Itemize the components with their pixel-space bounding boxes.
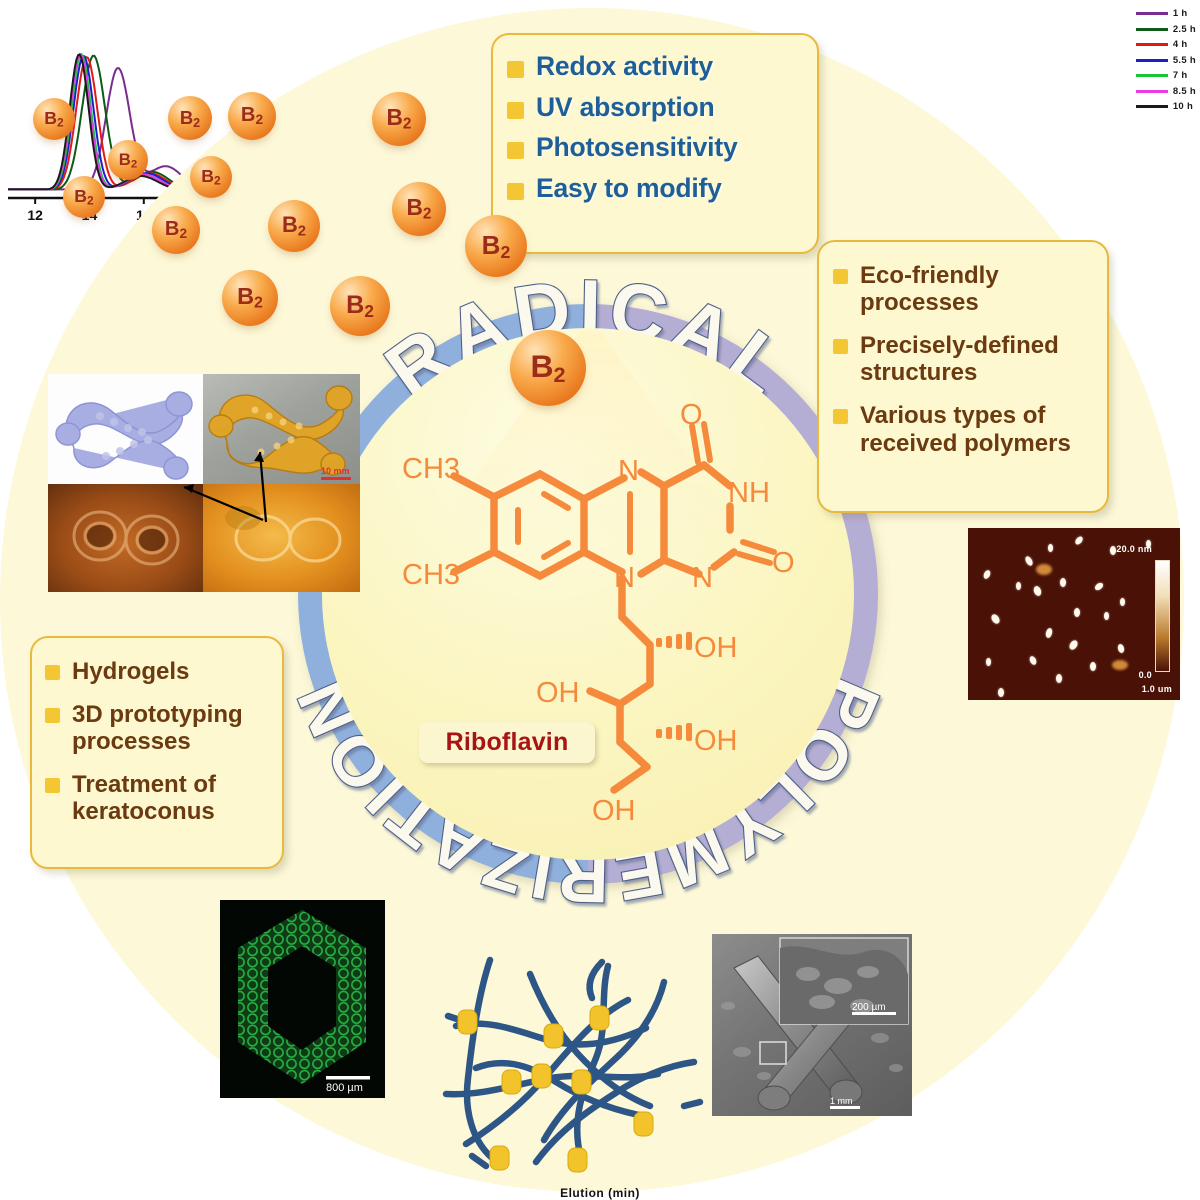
- properties-list: Redox activity UV absorption Photosensit…: [507, 52, 801, 204]
- applications-item-2: Treatment of keratoconus: [72, 771, 270, 825]
- atom-label-n-top: N: [618, 455, 639, 487]
- bullet-square-icon: [507, 102, 524, 119]
- list-item: Various types of received polymers: [833, 402, 1093, 456]
- applications-item-0: Hydrogels: [72, 658, 189, 685]
- properties-item-0: Redox activity: [536, 52, 713, 82]
- confocal-scale-bar-label: 800 µm: [326, 1082, 363, 1094]
- crosslink-node: [590, 1006, 609, 1030]
- panel-sem-microneedle: 200 µm 1 mm: [712, 934, 912, 1116]
- chart-legend-item: 2.5 h: [1136, 24, 1196, 35]
- advantages-list: Eco-friendly processes Precisely-defined…: [833, 262, 1093, 457]
- montage-cell-printed-object: 10 mm: [203, 374, 360, 484]
- montage-cell-closeup-left: [48, 484, 203, 592]
- crosslink-node: [490, 1146, 509, 1170]
- chart-legend-label: 7 h: [1173, 70, 1188, 81]
- chart-legend-item: 7 h: [1136, 70, 1196, 81]
- b2-sphere: B2: [228, 92, 276, 140]
- crosslink-node: [544, 1024, 563, 1048]
- riboflavin-label-text: Riboflavin: [446, 728, 569, 757]
- bullet-square-icon: [45, 708, 60, 723]
- chart-legend-item: 10 h: [1136, 101, 1196, 112]
- b2-sphere: B2: [330, 276, 390, 336]
- atom-label-oh-1: OH: [694, 632, 738, 664]
- atom-label-n-bottom: N: [614, 562, 635, 594]
- callout-applications: Hydrogels 3D prototyping processes Treat…: [30, 636, 284, 869]
- bullet-square-icon: [833, 409, 848, 424]
- crosslink-node: [572, 1070, 591, 1094]
- b2-sphere: B2: [190, 156, 232, 198]
- callout-properties: Redox activity UV absorption Photosensit…: [491, 33, 819, 254]
- b2-sphere: B2: [152, 206, 200, 254]
- afm-scale-max: 20.0 nm: [1116, 544, 1152, 554]
- chart-legend-item: 1 h: [1136, 8, 1196, 19]
- chart-legend-label: 5.5 h: [1173, 55, 1196, 66]
- bullet-square-icon: [45, 778, 60, 793]
- atom-label-n-ring: N: [692, 562, 713, 594]
- advantages-item-2: Various types of received polymers: [860, 402, 1093, 456]
- atom-label-oh-4: OH: [592, 795, 636, 827]
- chart-legend-item: 8.5 h: [1136, 86, 1196, 97]
- panel-polymer-network-diagram: [432, 944, 710, 1176]
- b2-sphere: B2: [108, 140, 148, 180]
- chart-x-tick-label: 12: [27, 207, 43, 223]
- riboflavin-structure: CH3 CH3 N N N NH O O OH OH OH OH: [392, 402, 822, 832]
- list-item: Treatment of keratoconus: [45, 771, 270, 825]
- chart-legend-label: 1 h: [1173, 8, 1188, 19]
- chart-legend-swatch: [1136, 105, 1168, 108]
- chart-legend: 1 h2.5 h4 h5.5 h7 h8.5 h10 h: [1136, 8, 1196, 117]
- properties-item-1: UV absorption: [536, 93, 715, 123]
- advantages-item-1: Precisely-defined structures: [860, 332, 1093, 386]
- atom-label-o-top: O: [680, 402, 703, 431]
- properties-item-2: Photosensitivity: [536, 133, 737, 163]
- chart-xlabel: Elution (min): [0, 1186, 1200, 1200]
- chart-legend-label: 10 h: [1173, 101, 1193, 112]
- bullet-square-icon: [507, 183, 524, 200]
- bullet-square-icon: [833, 269, 848, 284]
- atom-label-nh: NH: [728, 477, 770, 509]
- list-item: Redox activity: [507, 52, 801, 82]
- advantages-item-0: Eco-friendly processes: [860, 262, 1093, 316]
- chart-legend-label: 2.5 h: [1173, 24, 1196, 35]
- b2-sphere: B2: [33, 98, 75, 140]
- crosslink-node: [634, 1112, 653, 1136]
- chart-legend-item: 4 h: [1136, 39, 1196, 50]
- b2-sphere: B2: [372, 92, 426, 146]
- afm-scan-size: 1.0 um: [1142, 684, 1172, 694]
- atom-label-oh-3: OH: [694, 725, 738, 757]
- list-item: Easy to modify: [507, 174, 801, 204]
- chart-legend-swatch: [1136, 74, 1168, 77]
- scale-bar-label-montage: 10 mm: [321, 466, 350, 476]
- b2-sphere: B2: [63, 176, 105, 218]
- list-item: UV absorption: [507, 93, 801, 123]
- sem-scale-bar-label: 1 mm: [830, 1096, 853, 1106]
- bullet-square-icon: [507, 142, 524, 159]
- chart-legend-swatch: [1136, 12, 1168, 15]
- chart-legend-label: 4 h: [1173, 39, 1188, 50]
- bullet-square-icon: [507, 61, 524, 78]
- panel-confocal-hexagon-scaffold: 800 µm: [220, 900, 385, 1098]
- callout-advantages: Eco-friendly processes Precisely-defined…: [817, 240, 1109, 513]
- chart-legend-label: 8.5 h: [1173, 86, 1196, 97]
- atom-label-oh-2: OH: [536, 677, 580, 709]
- bullet-square-icon: [45, 665, 60, 680]
- b2-sphere: B2: [465, 215, 527, 277]
- applications-item-1: 3D prototyping processes: [72, 701, 270, 755]
- crosslink-node: [532, 1064, 551, 1088]
- crosslink-node: [458, 1010, 477, 1034]
- panel-3d-printed-hydrogel-montage: 10 mm: [48, 374, 360, 592]
- list-item: Eco-friendly processes: [833, 262, 1093, 316]
- atom-label-ch3-bottom: CH3: [402, 559, 460, 591]
- riboflavin-label: Riboflavin: [419, 722, 595, 763]
- sem-inset-scale-bar-label: 200 µm: [852, 1002, 886, 1013]
- panel-afm-height-image: 20.0 nm 0.0 1.0 um: [968, 528, 1180, 700]
- b2-sphere: B2: [268, 200, 320, 252]
- montage-cell-closeup-right: [203, 484, 360, 592]
- afm-scale-min: 0.0: [1139, 670, 1152, 680]
- chart-legend-swatch: [1136, 28, 1168, 31]
- chart-legend-swatch: [1136, 43, 1168, 46]
- b2-sphere: B2: [392, 182, 446, 236]
- b2-sphere: B2: [510, 330, 586, 406]
- afm-colorbar: [1155, 560, 1170, 672]
- list-item: Precisely-defined structures: [833, 332, 1093, 386]
- chart-legend-swatch: [1136, 90, 1168, 93]
- list-item: 3D prototyping processes: [45, 701, 270, 755]
- montage-cell-cad-model: [48, 374, 203, 484]
- crosslink-node: [502, 1070, 521, 1094]
- b2-sphere: B2: [168, 96, 212, 140]
- bullet-square-icon: [833, 339, 848, 354]
- list-item: Photosensitivity: [507, 133, 801, 163]
- applications-list: Hydrogels 3D prototyping processes Treat…: [45, 658, 270, 826]
- b2-sphere: B2: [222, 270, 278, 326]
- list-item: Hydrogels: [45, 658, 270, 685]
- chart-legend-item: 5.5 h: [1136, 55, 1196, 66]
- properties-item-3: Easy to modify: [536, 174, 722, 204]
- chart-legend-swatch: [1136, 59, 1168, 62]
- atom-label-o-right: O: [772, 547, 795, 579]
- atom-label-ch3-top: CH3: [402, 453, 460, 485]
- crosslink-node: [568, 1148, 587, 1172]
